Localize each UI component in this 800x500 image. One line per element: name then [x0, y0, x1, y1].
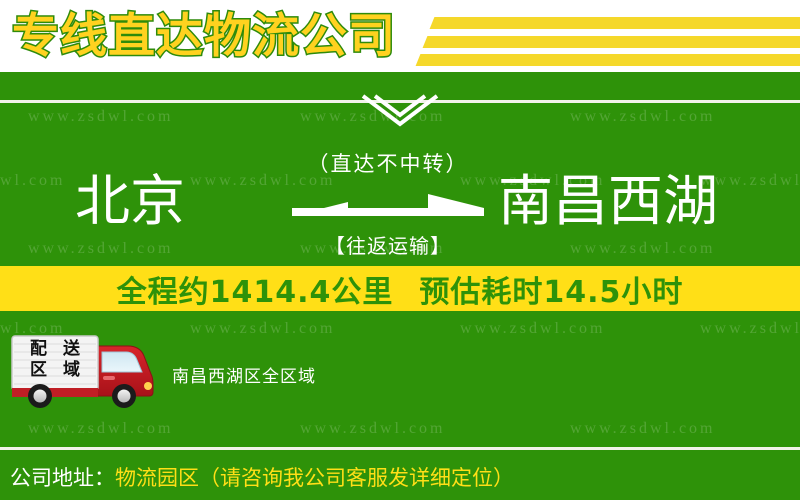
chevron-down-icon: [355, 94, 445, 128]
destination-city: 南昌西湖: [498, 162, 718, 240]
watermark: www.zsdwl.com: [570, 240, 716, 258]
footer-address: 公司地址： 物流园区（请咨询我公司客服发详细定位）: [0, 454, 800, 500]
header-stripe-2: [423, 36, 800, 48]
route-row: 北京 （直达不中转） 【往返运输】: [0, 162, 800, 242]
watermark: www.zsdwl.com: [300, 420, 446, 438]
watermark: www.zsdwl.com: [700, 320, 800, 338]
company-title: 专线直达物流公司: [12, 8, 396, 64]
address-value: 物流园区（请咨询我公司客服发详细定位）: [115, 462, 514, 492]
watermark: www.zsdwl.com: [28, 108, 174, 126]
origin-city: 北京: [75, 162, 185, 240]
direct-note: （直达不中转）: [282, 148, 494, 178]
watermark: www.zsdwl.com: [570, 420, 716, 438]
cargo-char-4: 域: [63, 361, 80, 379]
header-stripe-3: [416, 54, 800, 66]
banner-body: www.zsdwl.com www.zsdwl.com www.zsdwl.co…: [0, 72, 800, 500]
cargo-char-2: 送: [63, 340, 80, 358]
cargo-char-3: 区: [30, 361, 47, 379]
route-middle: （直达不中转） 【往返运输】: [282, 148, 494, 259]
cargo-label: 配 送 区 域: [22, 338, 88, 380]
watermark: www.zsdwl.com: [190, 320, 336, 338]
stats-bar: 全程约1414.4公里 预估耗时14.5小时: [0, 266, 800, 311]
watermark: www.zsdwl.com: [28, 240, 174, 258]
watermark: www.zsdwl.com: [28, 420, 174, 438]
delivery-area-text: 南昌西湖区全区域: [172, 362, 316, 387]
address-label: 公司地址：: [10, 462, 115, 492]
logistics-route-banner: 专线直达物流公司 www.zsdwl.com www.zsdwl.com www…: [0, 0, 800, 500]
delivery-truck-icon: 配 送 区 域: [8, 330, 158, 408]
distance-text: 全程约1414.4公里: [117, 267, 394, 311]
watermark: www.zsdwl.com: [570, 108, 716, 126]
banner-header: 专线直达物流公司: [0, 0, 800, 72]
watermark: www.zsdwl.com: [460, 320, 606, 338]
duration-text: 预估耗时14.5小时: [419, 267, 683, 311]
round-trip-note: 【往返运输】: [282, 230, 494, 259]
bidirectional-arrow-icon: [288, 192, 488, 228]
cargo-char-1: 配: [30, 340, 47, 358]
header-stripe-1: [430, 17, 800, 29]
bottom-divider: [0, 447, 800, 450]
